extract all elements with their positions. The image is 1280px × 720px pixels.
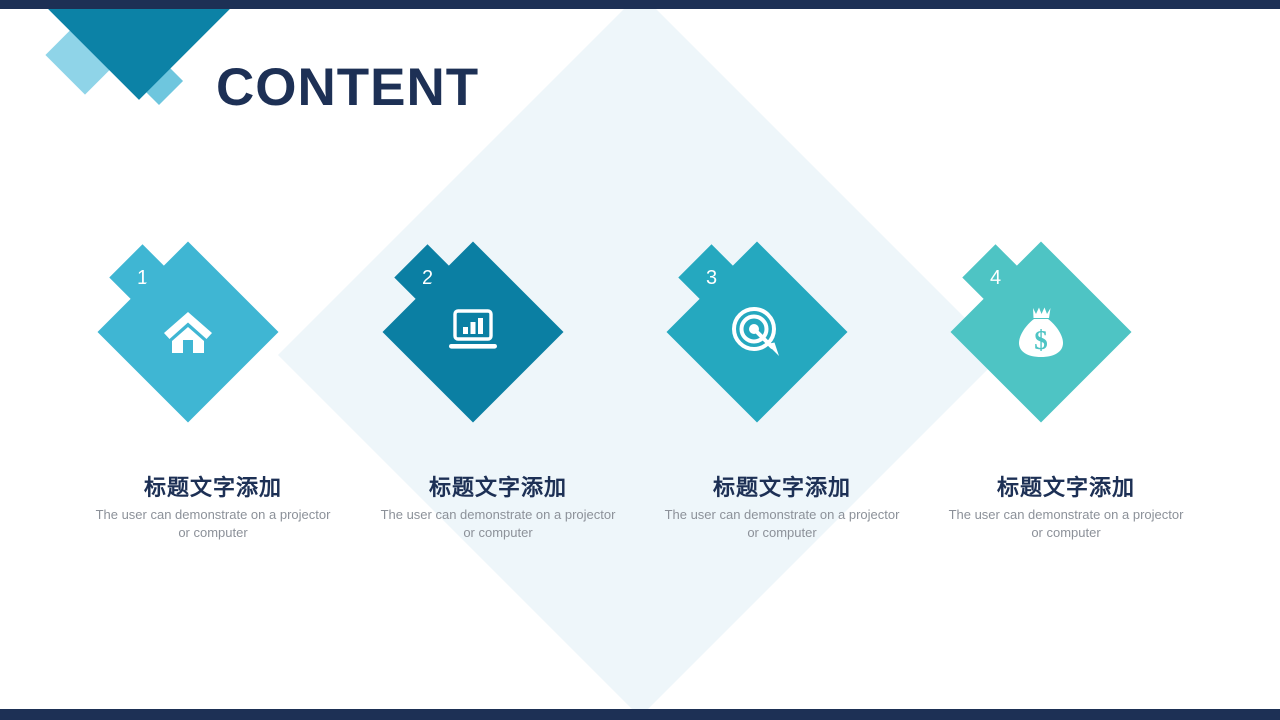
svg-text:$: $ [1034, 325, 1048, 355]
top-accent-bar [0, 0, 1280, 9]
home-icon [124, 268, 252, 396]
item-description: The user can demonstrate on a projector … [657, 506, 907, 541]
item-icon-diamond[interactable] [666, 241, 847, 422]
laptop-chart-icon [409, 268, 537, 396]
item-description: The user can demonstrate on a projector … [88, 506, 338, 541]
item-heading: 标题文字添加 [70, 470, 356, 502]
content-items-row: 1 标题文字添加 The user can demonstrate on a p… [0, 0, 1280, 720]
item-heading: 标题文字添加 [639, 470, 925, 502]
item-description: The user can demonstrate on a projector … [941, 506, 1191, 541]
item-icon-diamond[interactable] [382, 241, 563, 422]
page-title: CONTENT [216, 57, 479, 118]
content-item[interactable]: 4 $ 标题文字添加 The user can demonstrate on a… [923, 0, 1209, 720]
item-icon-diamond[interactable]: $ [950, 241, 1131, 422]
item-icon-diamond[interactable] [97, 241, 278, 422]
content-item[interactable]: 3 标题文字添加 The user can demonstrate on a p… [639, 0, 925, 720]
target-dart-icon [693, 268, 821, 396]
item-heading: 标题文字添加 [355, 470, 641, 502]
money-bag-icon: $ [977, 268, 1105, 396]
slide-canvas: CONTENT 1 标题文字添加 The user can demonstrat… [0, 0, 1280, 720]
item-description: The user can demonstrate on a projector … [373, 506, 623, 541]
bottom-accent-bar [0, 709, 1280, 720]
item-heading: 标题文字添加 [923, 470, 1209, 502]
